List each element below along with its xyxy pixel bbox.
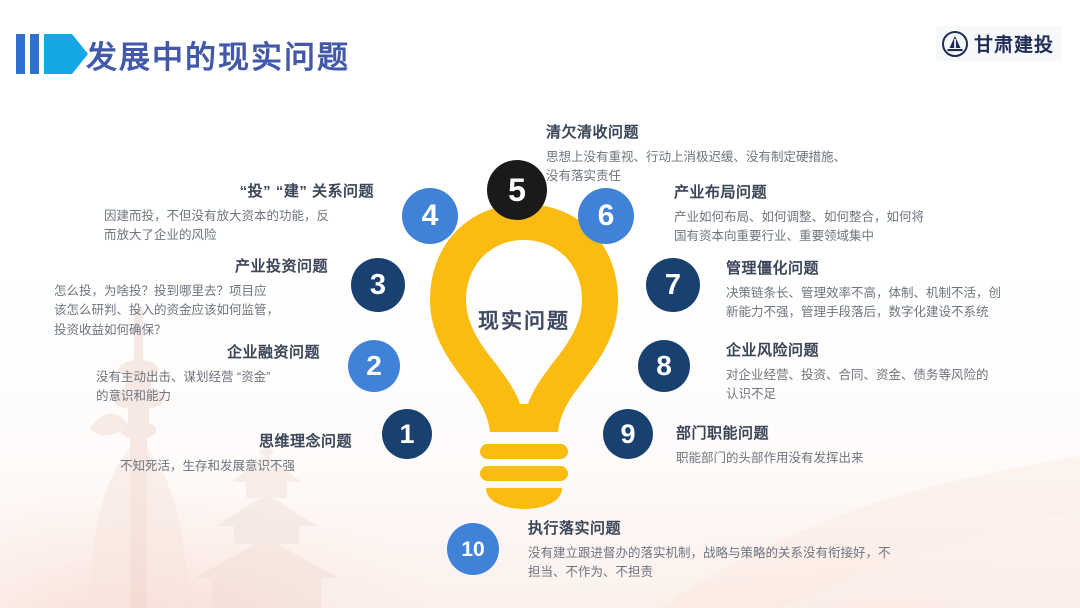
bulb-center-label: 现实问题 — [416, 305, 632, 335]
circle-emblem-icon — [942, 31, 968, 57]
number-badge-4[interactable]: 4 — [402, 188, 458, 244]
problem-body: 没有主动出击、谋划经营 “资金” 的意识和能力 — [96, 368, 320, 407]
problem-block-6: 产业布局问题产业如何布局、如何调整、如何整合，如何将 国有资本向重要行业、重要领… — [674, 181, 1054, 247]
slide-header: 发展中的现实问题 甘肃建投 — [0, 0, 1080, 104]
problem-body: 没有建立跟进督办的落实机制，战略与策略的关系没有衔接好，不 担当、不作为、不担责 — [528, 544, 998, 583]
problem-block-10: 执行落实问题没有建立跟进督办的落实机制，战略与策略的关系没有衔接好，不 担当、不… — [528, 517, 998, 583]
problem-body: 职能部门的头部作用没有发挥出来 — [676, 449, 996, 468]
problem-title: 清欠清收问题 — [546, 121, 886, 142]
bars-arrow-icon — [16, 32, 88, 76]
brand-logo: 甘肃建投 — [936, 26, 1062, 61]
problem-title: 部门职能问题 — [676, 422, 996, 443]
number-badge-10[interactable]: 10 — [447, 523, 499, 575]
problem-body: 因建而投，不但没有放大资本的功能，反 而放大了企业的风险 — [104, 207, 374, 246]
number-badge-1[interactable]: 1 — [382, 409, 432, 459]
problem-block-5: 清欠清收问题思想上没有重视、行动上消极迟缓、没有制定硬措施、 没有落实责任 — [546, 121, 886, 187]
number-badge-6[interactable]: 6 — [578, 188, 634, 244]
problem-body: 产业如何布局、如何调整、如何整合，如何将 国有资本向重要行业、重要领域集中 — [674, 208, 1054, 247]
problem-title: 企业融资问题 — [96, 341, 320, 362]
problem-block-3: 产业投资问题怎么投，为啥投？投到哪里去？项目应 该怎么研判、投入的资金应该如何监… — [54, 255, 328, 340]
problem-body: 不知死活，生存和发展意识不强 — [120, 457, 352, 476]
problem-block-4: “投” “建” 关系问题因建而投，不但没有放大资本的功能，反 而放大了企业的风险 — [104, 180, 374, 246]
number-badge-3[interactable]: 3 — [351, 258, 405, 312]
problem-block-1: 思维理念问题不知死活，生存和发展意识不强 — [120, 430, 352, 476]
problem-body: 对企业经营、投资、合同、资金、债务等风险的 认识不足 — [726, 366, 1046, 405]
problem-block-8: 企业风险问题对企业经营、投资、合同、资金、债务等风险的 认识不足 — [726, 339, 1046, 405]
problem-block-7: 管理僵化问题决策链条长、管理效率不高，体制、机制不活，创 新能力不强，管理手段落… — [726, 257, 1066, 323]
slide-canvas: 发展中的现实问题 甘肃建投 现实问题 1思维理念问题不知死活，生存和发展意识不强… — [0, 0, 1080, 608]
problem-block-2: 企业融资问题没有主动出击、谋划经营 “资金” 的意识和能力 — [96, 341, 320, 407]
problem-block-9: 部门职能问题职能部门的头部作用没有发挥出来 — [676, 422, 996, 468]
number-badge-2[interactable]: 2 — [348, 340, 400, 392]
problem-title: 产业投资问题 — [54, 255, 328, 276]
lightbulb-graphic — [416, 196, 632, 516]
problem-title: 思维理念问题 — [120, 430, 352, 451]
problem-title: 管理僵化问题 — [726, 257, 1066, 278]
number-badge-8[interactable]: 8 — [638, 340, 690, 392]
problem-title: 执行落实问题 — [528, 517, 998, 538]
page-title: 发展中的现实问题 — [86, 32, 350, 77]
number-badge-5[interactable]: 5 — [487, 160, 547, 220]
brand-name: 甘肃建投 — [974, 30, 1054, 57]
number-badge-7[interactable]: 7 — [646, 258, 700, 312]
number-badge-9[interactable]: 9 — [603, 409, 653, 459]
problem-body: 怎么投，为啥投？投到哪里去？项目应 该怎么研判、投入的资金应该如何监管， 投资收… — [54, 282, 328, 340]
problem-title: 产业布局问题 — [674, 181, 1054, 202]
problem-body: 决策链条长、管理效率不高，体制、机制不活，创 新能力不强，管理手段落后，数字化建… — [726, 284, 1066, 323]
problem-title: “投” “建” 关系问题 — [104, 180, 374, 201]
problem-title: 企业风险问题 — [726, 339, 1046, 360]
